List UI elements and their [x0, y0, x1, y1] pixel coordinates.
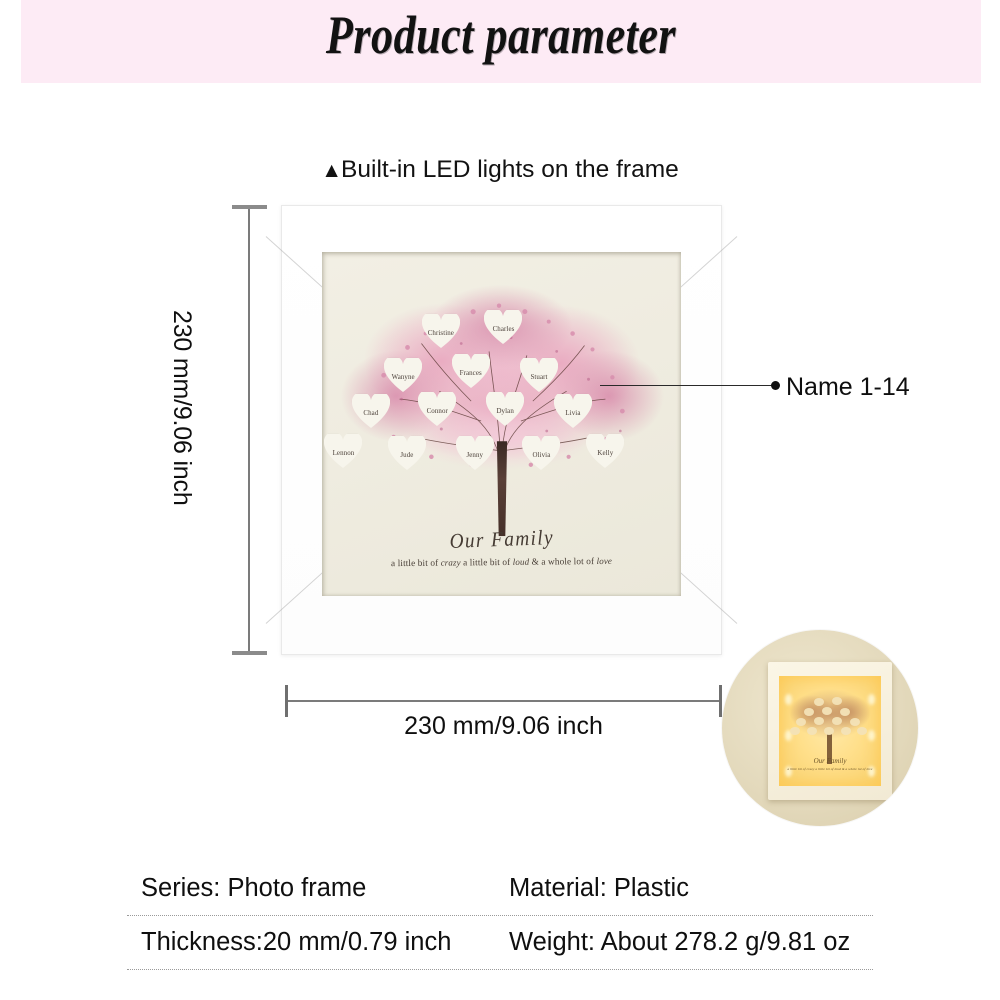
- name-heart: Frances: [452, 354, 490, 388]
- spec-series: Series: Photo frame: [127, 874, 499, 903]
- led-inset-frame: Our Family a little bit of crazy a littl…: [768, 662, 892, 800]
- led-inset-glow: Our Family a little bit of crazy a littl…: [779, 676, 881, 786]
- name-heart: Wanyne: [384, 358, 422, 392]
- spec-table: Series: Photo frame Material: Plastic Th…: [127, 862, 873, 970]
- name-heart: Stuart: [520, 358, 558, 392]
- width-dimension-line: [285, 700, 722, 702]
- name-heart: Christine: [422, 314, 460, 348]
- led-caption: ▲Built-in LED lights on the frame: [0, 156, 1000, 184]
- table-row: Thickness:20 mm/0.79 inch Weight: About …: [127, 916, 873, 970]
- led-inset-title: Our Family: [814, 757, 847, 765]
- name-heart: Jude: [388, 436, 426, 470]
- spec-thickness: Thickness:20 mm/0.79 inch: [127, 928, 499, 957]
- our-family-text: Our Family a little bit of crazy a littl…: [322, 527, 681, 568]
- height-dimension-label: 230 mm/9.06 inch: [167, 310, 196, 570]
- spec-weight: Weight: About 278.2 g/9.81 oz: [499, 928, 873, 957]
- our-family-script: Our Family: [449, 525, 554, 554]
- dimension-cap-top: [232, 205, 267, 209]
- name-heart: Chad: [352, 394, 390, 428]
- name-heart: Connor: [418, 392, 456, 426]
- name-callout-dot: [771, 381, 780, 390]
- product-photo-frame: Christine Charles Wanyne Frances Stuart …: [281, 205, 722, 655]
- led-inset-caption: Our Family a little bit of crazy a littl…: [779, 756, 881, 772]
- name-callout-leader-line: [600, 385, 772, 386]
- led-inset-subtitle: a little bit of crazy a little bit of lo…: [779, 767, 881, 772]
- name-heart: Lennon: [324, 434, 362, 468]
- led-inset-photo: Our Family a little bit of crazy a littl…: [722, 630, 918, 826]
- name-heart: Charles: [484, 310, 522, 344]
- led-caption-text: Built-in LED lights on the frame: [341, 156, 679, 183]
- frame-inner-artwork: Christine Charles Wanyne Frances Stuart …: [322, 252, 681, 596]
- name-heart: Olivia: [522, 436, 560, 470]
- name-heart: Livia: [554, 394, 592, 428]
- name-heart: Jenny: [456, 436, 494, 470]
- our-family-subtitle: a little bit of crazy a little bit of lo…: [322, 555, 681, 570]
- header-band: Product parameter: [21, 0, 981, 83]
- spec-material: Material: Plastic: [499, 874, 873, 903]
- name-heart: Dylan: [486, 392, 524, 426]
- triangle-marker-icon: ▲: [321, 159, 341, 182]
- page-title: Product parameter: [107, 4, 894, 66]
- dimension-cap-bottom: [232, 651, 267, 655]
- table-row: Series: Photo frame Material: Plastic: [127, 862, 873, 916]
- width-dimension-label: 230 mm/9.06 inch: [285, 712, 722, 741]
- name-heart: Kelly: [586, 434, 624, 468]
- height-dimension-line: [248, 205, 250, 655]
- name-callout-label: Name 1-14: [786, 373, 910, 402]
